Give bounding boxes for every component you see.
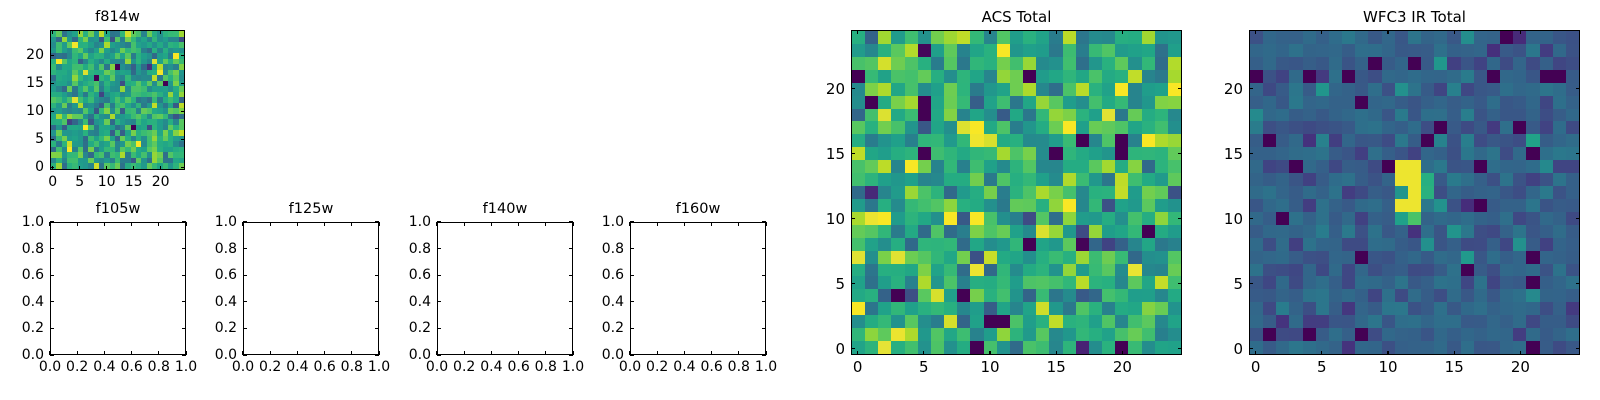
heatmap-cell [1303,31,1316,44]
heatmap-cell [931,83,944,96]
heatmap-cell [1408,212,1421,225]
heatmap-cell [1553,315,1566,328]
heatmap-cell [1553,83,1566,96]
heatmap-cell [970,186,983,199]
heatmap-cell [1063,147,1076,160]
x-tick-label: 1.0 [755,359,777,375]
heatmap-cell [1289,96,1302,109]
heatmap-cell [1010,302,1023,315]
heatmap-cell [1276,264,1289,277]
heatmap-cell [1566,96,1579,109]
heatmap-cell [1168,264,1181,277]
heatmap-cell [1434,276,1447,289]
heatmap-cell [984,328,997,341]
heatmap-cell [852,57,865,70]
heatmap-cell [931,70,944,83]
heatmap-cell [1036,328,1049,341]
heatmap-cell [1434,134,1447,147]
panel-title-acs-total: ACS Total [851,9,1182,26]
heatmap-cell [1461,276,1474,289]
heatmap-cell [1513,147,1526,160]
heatmap-cell [1434,173,1447,186]
heatmap-cell [1566,57,1579,70]
heatmap-cell [852,83,865,96]
heatmap-cell [1434,264,1447,277]
heatmap-cell [957,264,970,277]
heatmap-cell [957,160,970,173]
heatmap-cell [1434,160,1447,173]
heatmap-cell [1447,160,1460,173]
heatmap-cell [1102,328,1115,341]
heatmap-cell [1316,109,1329,122]
heatmap-cell [1128,251,1141,264]
heatmap-cell [957,276,970,289]
heatmap-cell [970,147,983,160]
heatmap-cell [1553,238,1566,251]
heatmap-cell [1395,44,1408,57]
heatmap-cell [1250,96,1263,109]
heatmap-cell [1263,289,1276,302]
heatmap-cell [1276,134,1289,147]
heatmap-cell [865,276,878,289]
heatmap-cell [1421,134,1434,147]
heatmap-cell [1329,199,1342,212]
heatmap-cell [878,109,891,122]
heatmap-cell [984,96,997,109]
heatmap-cell [1540,238,1553,251]
heatmap-cell [1421,70,1434,83]
heatmap-cell [1408,121,1421,134]
heatmap-cell [1089,199,1102,212]
heatmap-cell [997,70,1010,83]
heatmap-cell [1540,160,1553,173]
heatmap-cell [1289,341,1302,354]
heatmap-cell [1408,186,1421,199]
heatmap-cell [1342,83,1355,96]
heatmap-cell [1250,225,1263,238]
heatmap-cell [970,134,983,147]
heatmap-cell [984,57,997,70]
heatmap-cell [997,173,1010,186]
heatmap-cell [1513,212,1526,225]
heatmap-cell [1566,121,1579,134]
heatmap-cell [1329,315,1342,328]
heatmap-cell [1036,251,1049,264]
heatmap-cell [1355,315,1368,328]
heatmap-cell [891,302,904,315]
heatmap-cell [944,251,957,264]
heatmap-cell [1076,238,1089,251]
y-tick-label: 20 [826,81,845,97]
heatmap-cell [1500,328,1513,341]
heatmap-cell [1329,173,1342,186]
heatmap-cell [997,44,1010,57]
heatmap-cell [1168,302,1181,315]
heatmap-cell [1168,31,1181,44]
heatmap-cell [1049,186,1062,199]
heatmap-cell [1076,83,1089,96]
heatmap-cell [1447,315,1460,328]
heatmap-cell [865,212,878,225]
heatmap-cell [1036,121,1049,134]
heatmap-cell [878,225,891,238]
heatmap-cell [1395,251,1408,264]
heatmap-cell [1142,315,1155,328]
heatmap-cell [918,57,931,70]
heatmap-cell [1447,31,1460,44]
heatmap-cell [1263,44,1276,57]
heatmap-cell [865,199,878,212]
heatmap-cell [1342,57,1355,70]
heatmap-cell [918,44,931,57]
heatmap-acs-total [852,31,1181,354]
heatmap-cell [1434,121,1447,134]
heatmap-cell [1329,238,1342,251]
heatmap-cell [944,83,957,96]
y-tick-label: 0.6 [22,267,44,283]
heatmap-cell [905,31,918,44]
heatmap-cell [931,160,944,173]
heatmap-cell [1447,251,1460,264]
heatmap-cell [905,264,918,277]
heatmap-cell [1076,44,1089,57]
heatmap-cell [1023,276,1036,289]
heatmap-cell [957,289,970,302]
axes-frame-f125w [243,222,379,355]
heatmap-cell [1089,96,1102,109]
heatmap-cell [1250,109,1263,122]
heatmap-cell [1434,289,1447,302]
heatmap-cell [1276,31,1289,44]
heatmap-cell [1540,315,1553,328]
panel-title-f125w: f125w [243,201,379,218]
heatmap-cell [1155,109,1168,122]
x-tick-label: 5 [1317,359,1327,375]
heatmap-cell [1303,302,1316,315]
heatmap-cell [1168,96,1181,109]
heatmap-cell [1023,44,1036,57]
heatmap-cell [1010,173,1023,186]
heatmap-cell [1276,44,1289,57]
heatmap-cell [1289,160,1302,173]
heatmap-cell [1487,251,1500,264]
heatmap-cell [1368,173,1381,186]
heatmap-cell [1303,83,1316,96]
heatmap-cell [1142,134,1155,147]
heatmap-cell [1421,276,1434,289]
heatmap-cell [957,57,970,70]
heatmap-cell [1355,225,1368,238]
heatmap-cell [1076,160,1089,173]
heatmap-cell [1076,225,1089,238]
heatmap-cell [891,225,904,238]
x-tick-label: 0 [853,359,863,375]
heatmap-cell [1566,328,1579,341]
heatmap-cell [918,238,931,251]
heatmap-cell [905,302,918,315]
heatmap-cell [1382,251,1395,264]
heatmap-cell [1461,57,1474,70]
heatmap-cell [1395,57,1408,70]
heatmap-cell [1513,31,1526,44]
panel-title-wfc3-ir-total: WFC3 IR Total [1249,9,1580,26]
heatmap-cell [1128,186,1141,199]
heatmap-cell [997,341,1010,354]
heatmap-cell [1102,276,1115,289]
heatmap-cell [1115,83,1128,96]
heatmap-cell [1540,31,1553,44]
heatmap-cell [1461,70,1474,83]
heatmap-cell [1142,264,1155,277]
heatmap-cell [1128,57,1141,70]
heatmap-cell [1102,212,1115,225]
heatmap-cell [891,96,904,109]
heatmap-cell [1289,70,1302,83]
heatmap-cell [1263,328,1276,341]
heatmap-cell [1329,70,1342,83]
heatmap-cell [1408,109,1421,122]
heatmap-cell [1063,212,1076,225]
heatmap-cell [878,134,891,147]
heatmap-cell [905,186,918,199]
heatmap-cell [1474,251,1487,264]
heatmap-cell [1342,315,1355,328]
heatmap-cell [957,134,970,147]
heatmap-cell [1408,289,1421,302]
heatmap-cell [1063,302,1076,315]
heatmap-cell [1474,44,1487,57]
heatmap-cell [970,121,983,134]
heatmap-cell [1513,315,1526,328]
heatmap-cell [1329,186,1342,199]
heatmap-cell [865,238,878,251]
heatmap-cell [1566,109,1579,122]
heatmap-cell [1395,328,1408,341]
heatmap-cell [1276,238,1289,251]
y-tick-label: 0.4 [215,294,237,310]
heatmap-cell [1434,70,1447,83]
heatmap-cell [1513,160,1526,173]
heatmap-cell [1142,121,1155,134]
heatmap-cell [1010,70,1023,83]
heatmap-cell [1023,212,1036,225]
heatmap-wfc3-ir-total [1250,31,1579,354]
heatmap-cell [1102,289,1115,302]
heatmap-cell [944,160,957,173]
y-tick-label: 1.0 [22,214,44,230]
heatmap-cell [1010,212,1023,225]
heatmap-cell [1155,31,1168,44]
heatmap-cell [1382,289,1395,302]
heatmap-cell [1500,121,1513,134]
heatmap-cell [1342,173,1355,186]
heatmap-cell [1382,225,1395,238]
heatmap-cell [1289,44,1302,57]
heatmap-cell [878,57,891,70]
heatmap-cell [1168,289,1181,302]
heatmap-cell [1010,276,1023,289]
heatmap-cell [1049,134,1062,147]
heatmap-cell [1553,302,1566,315]
heatmap-cell [852,31,865,44]
heatmap-cell [1461,44,1474,57]
heatmap-cell [1382,44,1395,57]
heatmap-cell [1513,83,1526,96]
y-tick-label: 0.8 [215,241,237,257]
heatmap-cell [1063,134,1076,147]
heatmap-cell [1102,160,1115,173]
heatmap-cell [918,302,931,315]
heatmap-cell [1089,109,1102,122]
heatmap-cell [1115,44,1128,57]
heatmap-cell [1102,31,1115,44]
heatmap-cell [1168,225,1181,238]
heatmap-cell [1115,289,1128,302]
heatmap-cell [1049,238,1062,251]
heatmap-cell [1447,186,1460,199]
heatmap-cell [1447,96,1460,109]
heatmap-cell [1276,96,1289,109]
heatmap-cell [1102,264,1115,277]
heatmap-cell [1063,251,1076,264]
heatmap-cell [1263,199,1276,212]
heatmap-cell [984,186,997,199]
heatmap-cell [1023,83,1036,96]
heatmap-cell [1368,341,1381,354]
heatmap-cell [1553,96,1566,109]
heatmap-cell [1276,328,1289,341]
heatmap-cell [1063,44,1076,57]
heatmap-cell [931,121,944,134]
heatmap-cell [1474,315,1487,328]
heatmap-cell [1368,276,1381,289]
heatmap-cell [1540,341,1553,354]
x-tick-label: 0.8 [728,359,750,375]
heatmap-cell [1461,160,1474,173]
heatmap-cell [1289,31,1302,44]
heatmap-cell [852,199,865,212]
heatmap-cell [1168,147,1181,160]
heatmap-cell [918,199,931,212]
heatmap-cell [931,199,944,212]
heatmap-cell [1526,225,1539,238]
heatmap-cell [852,315,865,328]
heatmap-cell [1076,31,1089,44]
heatmap-cell [1355,134,1368,147]
heatmap-cell [878,341,891,354]
heatmap-cell [918,147,931,160]
y-tick-label: 0 [1233,341,1243,357]
heatmap-cell [1102,238,1115,251]
heatmap-cell [1434,238,1447,251]
y-tick-label: 0.4 [409,294,431,310]
heatmap-cell [970,264,983,277]
heatmap-cell [1250,199,1263,212]
panel-title-f105w: f105w [50,201,186,218]
heatmap-cell [984,134,997,147]
heatmap-cell [1487,186,1500,199]
x-tick-label: 0.8 [535,359,557,375]
heatmap-cell [1474,134,1487,147]
heatmap-cell [865,57,878,70]
heatmap-cell [1036,83,1049,96]
heatmap-cell [1487,328,1500,341]
heatmap-cell [1036,199,1049,212]
heatmap-cell [1023,199,1036,212]
heatmap-cell [984,341,997,354]
heatmap-cell [970,96,983,109]
heatmap-cell [1089,264,1102,277]
heatmap-cell [1487,264,1500,277]
heatmap-cell [1010,186,1023,199]
heatmap-cell [891,289,904,302]
heatmap-cell [1342,289,1355,302]
heatmap-cell [1142,212,1155,225]
heatmap-cell [1382,328,1395,341]
heatmap-cell [1408,328,1421,341]
x-tick-label: 0.4 [286,359,308,375]
heatmap-cell [1128,31,1141,44]
heatmap-cell [891,251,904,264]
heatmap-cell [944,44,957,57]
heatmap-cell [1076,173,1089,186]
heatmap-cell [1289,264,1302,277]
heatmap-cell [1540,173,1553,186]
heatmap-cell [1342,96,1355,109]
heatmap-cell [1434,212,1447,225]
x-tick-label: 20 [1511,359,1530,375]
heatmap-cell [1276,109,1289,122]
heatmap-cell [1303,264,1316,277]
heatmap-cell [1023,57,1036,70]
heatmap-cell [1102,121,1115,134]
heatmap-cell [1461,251,1474,264]
heatmap-cell [970,109,983,122]
heatmap-cell [1421,147,1434,160]
x-tick-label: 0.6 [700,359,722,375]
heatmap-cell [1474,31,1487,44]
heatmap-cell [1395,276,1408,289]
y-tick-label: 15 [1224,146,1243,162]
heatmap-cell [1355,289,1368,302]
heatmap-cell [1474,328,1487,341]
heatmap-cell [944,315,957,328]
heatmap-cell [1142,160,1155,173]
heatmap-cell [1553,173,1566,186]
heatmap-cell [1076,341,1089,354]
heatmap-cell [1474,302,1487,315]
heatmap-cell [1500,276,1513,289]
heatmap-cell [1408,57,1421,70]
heatmap-cell [865,186,878,199]
heatmap-cell [1487,276,1500,289]
heatmap-cell [1076,315,1089,328]
heatmap-cell [1316,328,1329,341]
heatmap-cell [1155,251,1168,264]
heatmap-cell [1487,96,1500,109]
heatmap-cell [878,199,891,212]
heatmap-cell [1526,83,1539,96]
heatmap-cell [1395,121,1408,134]
heatmap-cell [931,173,944,186]
heatmap-cell [1355,121,1368,134]
heatmap-cell [1142,44,1155,57]
heatmap-cell [918,225,931,238]
heatmap-cell [1487,341,1500,354]
heatmap-cell [1316,147,1329,160]
heatmap-cell [1500,341,1513,354]
heatmap-cell [970,44,983,57]
